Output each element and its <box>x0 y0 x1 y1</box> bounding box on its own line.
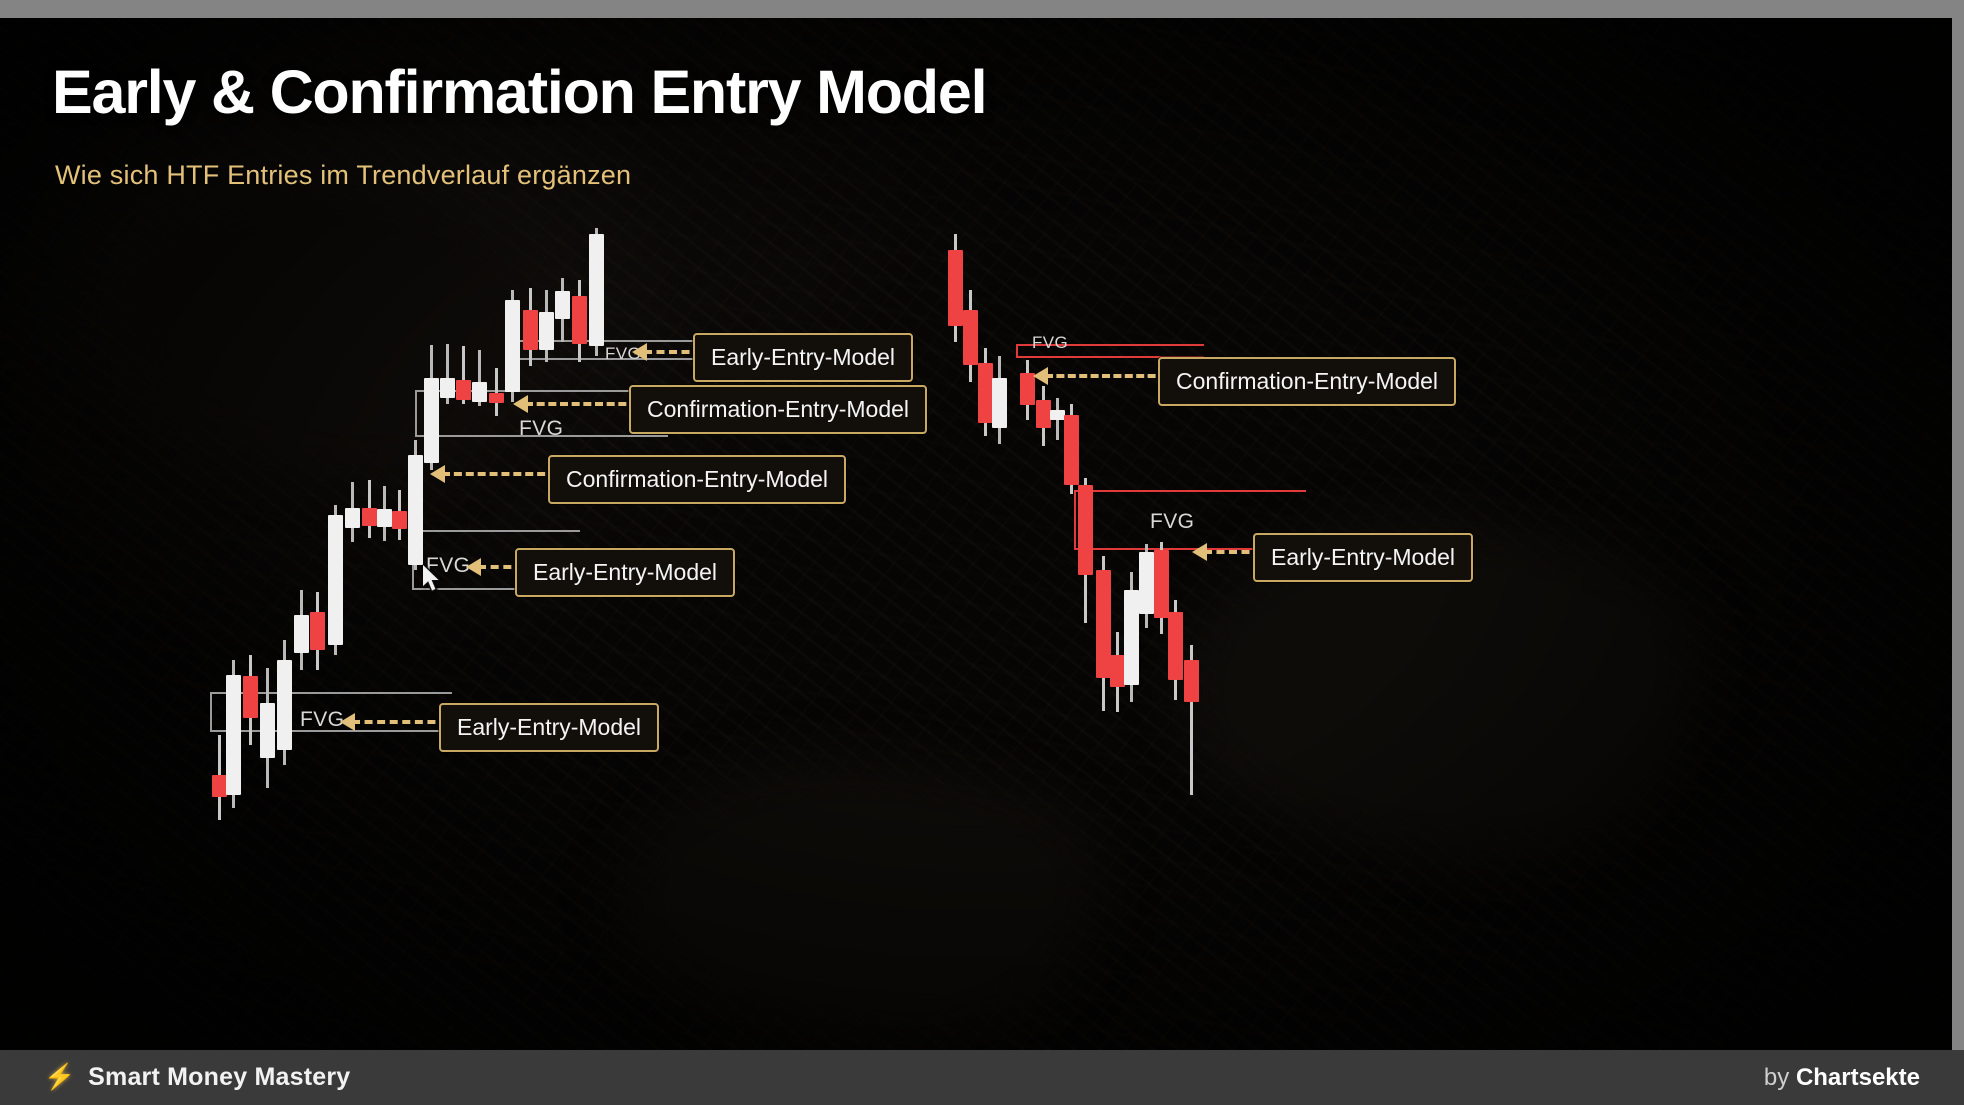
annotation-arrow-head <box>1033 367 1048 385</box>
annotation-label-left-bot-early[interactable]: Early-Entry-Model <box>439 703 659 752</box>
candle-body-bear <box>1154 550 1169 618</box>
fvg-zone-left-edge <box>210 692 212 730</box>
candle-body-bull <box>992 378 1007 428</box>
slide-canvas: Early & Confirmation Entry Model Wie sic… <box>0 0 1964 1105</box>
candle-body-bull <box>377 509 392 527</box>
candle-body-bear <box>1036 400 1051 428</box>
candle-body-bear <box>212 775 227 797</box>
annotation-label-left-mid-early[interactable]: Early-Entry-Model <box>515 548 735 597</box>
candle-body-bear <box>963 310 978 365</box>
candle-body-bull <box>226 675 241 795</box>
credit-author: Chartsekte <box>1796 1064 1920 1091</box>
candle-body-bull <box>408 455 423 565</box>
annotation-arrow-head <box>1192 543 1207 561</box>
fvg-zone-top-line <box>1074 490 1306 492</box>
candle-body-bear <box>948 250 963 326</box>
candle-body-bear <box>392 511 407 529</box>
candle-body-bull <box>539 312 554 350</box>
candle-body-bull <box>260 703 275 758</box>
candle-body-bull <box>1124 590 1139 685</box>
fvg-zone-left-edge <box>1074 490 1076 548</box>
annotation-arrow-line <box>525 402 638 406</box>
annotation-arrow-head <box>430 465 445 483</box>
candle-body-bull <box>440 378 455 398</box>
annotation-arrow-head <box>340 713 355 731</box>
fvg-zone-left-edge <box>1016 344 1018 356</box>
candle-body-bear <box>1110 655 1125 687</box>
annotation-arrow-head <box>513 395 528 413</box>
fvg-text-label: FVG <box>300 708 344 732</box>
candle-body-bull <box>424 378 439 463</box>
candle-body-bull <box>505 300 520 392</box>
candle-body-bull <box>1139 552 1154 614</box>
brand-name: Smart Money Mastery <box>88 1063 350 1092</box>
candle-body-bear <box>1184 660 1199 702</box>
footer-bar: ⚡ Smart Money Mastery by Chartsekte <box>0 1050 1964 1105</box>
fvg-zone-left-edge <box>415 390 417 435</box>
candle-body-bull <box>472 382 487 402</box>
candle-body-bear <box>243 676 258 718</box>
annotation-arrow-line <box>442 472 557 476</box>
annotation-arrow-head <box>632 343 647 361</box>
candlestick-chart-area <box>0 0 1964 1105</box>
annotation-label-left-top-early[interactable]: Early-Entry-Model <box>693 333 913 382</box>
candle-body-bull <box>555 291 570 319</box>
candle-body-bull <box>328 515 343 645</box>
candle-body-bear <box>362 508 377 526</box>
candle-body-bull <box>277 660 292 750</box>
fvg-text-label: FVG <box>1150 510 1194 534</box>
candle-body-bear <box>456 380 471 400</box>
candle-body-bear <box>572 296 587 344</box>
fvg-text-label: FVG <box>1032 333 1068 353</box>
annotation-arrow-line <box>352 720 448 724</box>
candle-body-bull <box>345 508 360 528</box>
annotation-arrow-head <box>466 558 481 576</box>
credit-prefix: by <box>1764 1064 1796 1091</box>
candle-body-bear <box>1064 415 1079 485</box>
mouse-cursor-icon <box>421 565 443 593</box>
footer-brand-group: ⚡ Smart Money Mastery <box>44 1063 350 1092</box>
annotation-label-right-early[interactable]: Early-Entry-Model <box>1253 533 1473 582</box>
candle-body-bear <box>978 363 993 423</box>
annotation-label-left-conf-2[interactable]: Confirmation-Entry-Model <box>548 455 846 504</box>
lightning-bolt-icon: ⚡ <box>44 1065 75 1090</box>
candle-wick <box>495 368 498 416</box>
candle-body-bear <box>310 612 325 650</box>
candle-body-bear <box>1078 485 1093 575</box>
credit-byline: by Chartsekte <box>1764 1064 1920 1092</box>
annotation-label-right-conf[interactable]: Confirmation-Entry-Model <box>1158 357 1456 406</box>
annotation-label-left-conf-1[interactable]: Confirmation-Entry-Model <box>629 385 927 434</box>
candle-body-bull <box>294 615 309 653</box>
candle-body-bull <box>589 234 604 346</box>
candle-body-bear <box>489 393 504 403</box>
fvg-zone-top-line <box>412 530 580 532</box>
candle-body-bear <box>1168 612 1183 680</box>
annotation-arrow-line <box>1045 374 1167 378</box>
candle-body-bull <box>1050 410 1065 420</box>
candle-body-bear <box>523 310 538 350</box>
fvg-text-label: FVG <box>519 417 563 441</box>
candle-body-bear <box>1096 570 1111 678</box>
